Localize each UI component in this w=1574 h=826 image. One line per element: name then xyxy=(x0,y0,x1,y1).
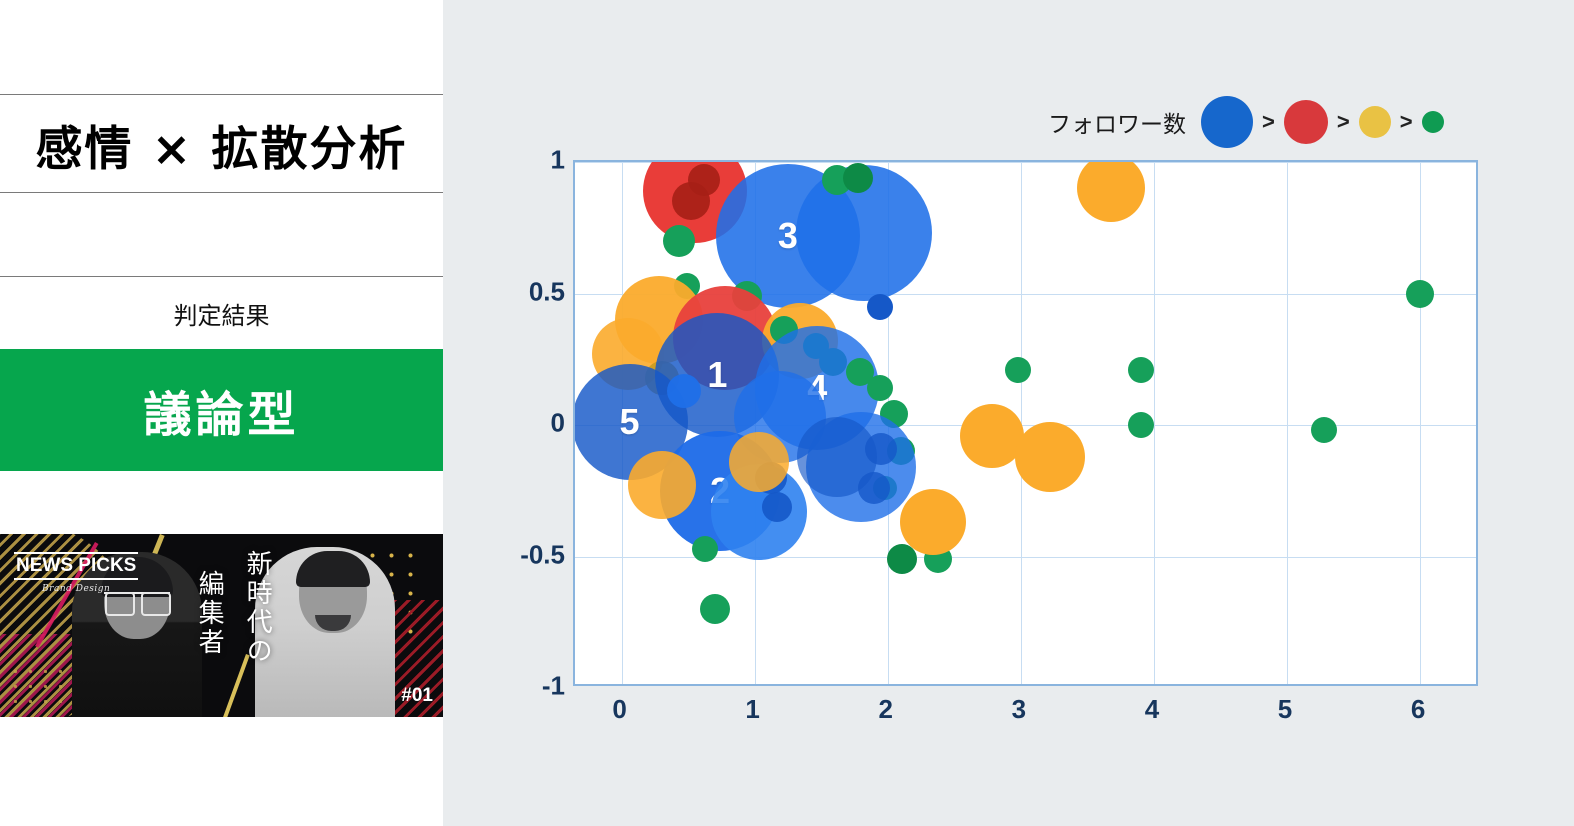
x-axis: 0123456 xyxy=(443,0,1574,826)
x-axis-tick: 6 xyxy=(1411,694,1425,725)
newspicks-sublabel: Brand Design xyxy=(14,584,138,594)
x-axis-tick: 5 xyxy=(1278,694,1292,725)
page-title: 感情 × 拡散分析 xyxy=(0,96,443,192)
x-axis-tick: 1 xyxy=(745,694,759,725)
thumbnail-headline-line2: 編集者 xyxy=(194,570,223,657)
x-axis-tick: 2 xyxy=(879,694,893,725)
glasses-lens-right xyxy=(141,592,171,616)
left-info-panel: 感情 × 拡散分析 判定結果 議論型 NEWS PICKS Brand Desi… xyxy=(0,0,443,826)
newspicks-logo: NEWS PICKS Brand Design xyxy=(14,552,138,594)
result-label: 判定結果 xyxy=(0,277,443,349)
result-badge: 議論型 xyxy=(0,349,443,471)
thumbnail-headline-line1: 新時代の xyxy=(242,550,271,666)
newspicks-wordmark: NEWS PICKS xyxy=(14,552,138,580)
x-axis-tick: 0 xyxy=(612,694,626,725)
thumbnail-episode-number: #01 xyxy=(401,685,433,707)
bubble-chart-region: フォロワー数 >>> 31542 10.50-0.5-1 0123456 xyxy=(443,0,1574,826)
x-axis-tick: 4 xyxy=(1145,694,1159,725)
x-axis-tick: 3 xyxy=(1012,694,1026,725)
divider-top xyxy=(0,94,443,95)
glasses-lens-left xyxy=(105,592,135,616)
episode-thumbnail[interactable]: NEWS PICKS Brand Design 新時代の 編集者 #01 xyxy=(0,534,443,717)
divider-under-title xyxy=(0,192,443,193)
